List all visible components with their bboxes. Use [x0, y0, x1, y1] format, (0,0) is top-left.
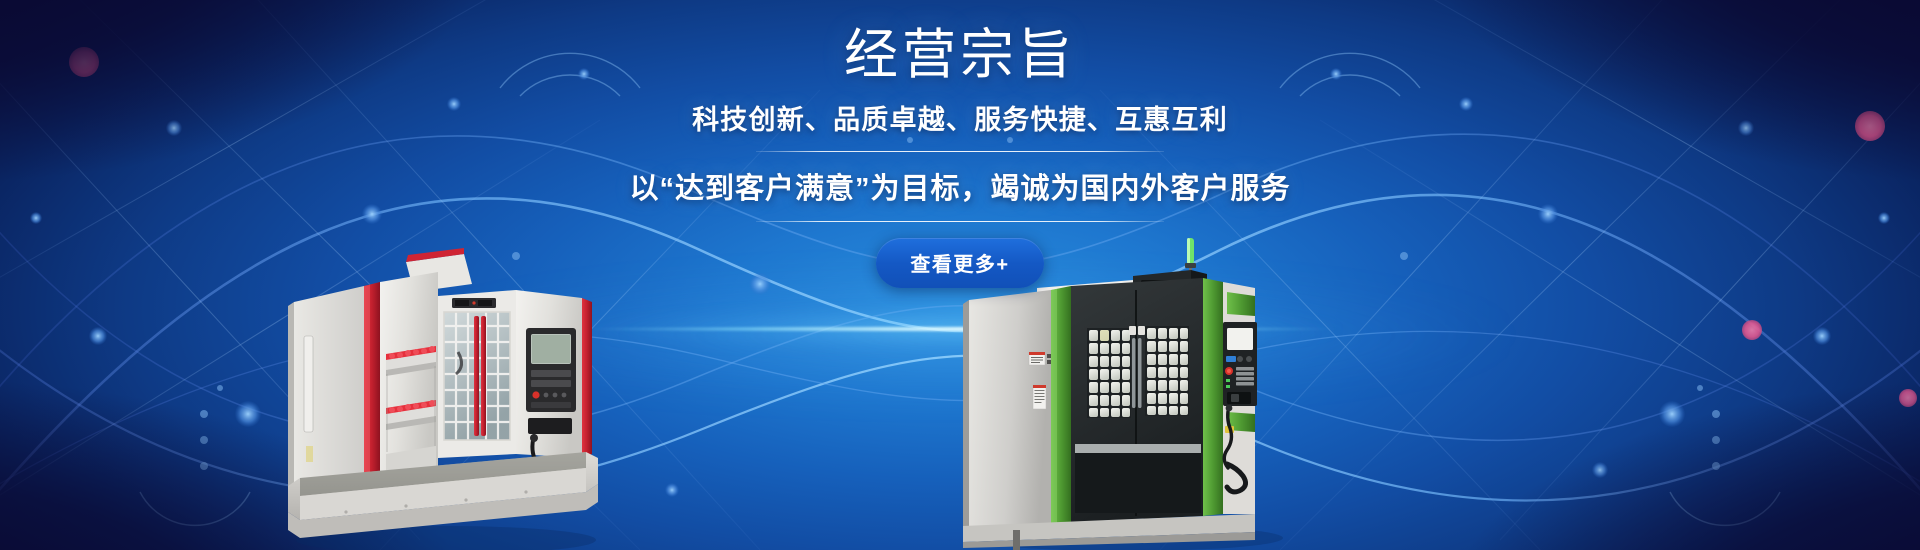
banner-text-block: 经营宗旨 科技创新、品质卓越、服务快捷、互惠互利 以“达到客户满意”为目标，竭诚… — [0, 24, 1920, 288]
view-more-button[interactable]: 查看更多+ — [876, 238, 1043, 288]
cta-wrapper: 查看更多+ — [0, 238, 1920, 288]
banner-tagline: 以“达到客户满意”为目标，竭诚为国内外客户服务 — [0, 165, 1920, 207]
banner-subtitle: 科技创新、品质卓越、服务快捷、互惠互利 — [0, 98, 1920, 137]
promo-banner: 经营宗旨 科技创新、品质卓越、服务快捷、互惠互利 以“达到客户满意”为目标，竭诚… — [0, 0, 1920, 550]
divider-lower — [756, 221, 1164, 222]
divider-upper — [756, 151, 1164, 152]
page-title: 经营宗旨 — [0, 24, 1920, 87]
